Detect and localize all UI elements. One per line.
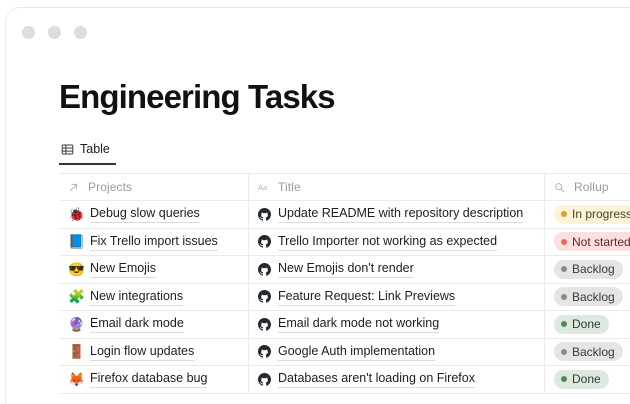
project-emoji-icon: 🚪	[68, 345, 83, 359]
cell-project[interactable]: 🐞Debug slow queries	[59, 201, 249, 228]
status-label: Backlog	[572, 290, 615, 304]
table-body: 🐞Debug slow queriesUpdate README with re…	[59, 201, 630, 394]
cell-rollup[interactable]: Backlog	[545, 339, 630, 366]
cell-project[interactable]: 🦊Firefox database bug	[59, 366, 249, 393]
status-dot-icon	[561, 321, 567, 327]
github-icon	[258, 345, 271, 358]
project-emoji-icon: 📘	[68, 235, 83, 249]
project-emoji-icon: 🐞	[68, 208, 83, 222]
github-icon	[258, 290, 271, 303]
maximize-dot[interactable]	[48, 26, 61, 39]
status-label: Done	[572, 317, 601, 331]
github-icon	[258, 318, 271, 331]
cell-rollup[interactable]: In progress	[545, 201, 630, 228]
app-window: Engineering Tasks Table	[6, 8, 630, 404]
status-dot-icon	[561, 349, 567, 355]
cell-title[interactable]: Google Auth implementation	[249, 339, 545, 366]
text-aa-icon: Aa	[258, 182, 271, 193]
cell-rollup[interactable]: Done	[545, 366, 630, 393]
task-title[interactable]: Feature Request: Link Previews	[278, 288, 455, 306]
cell-project[interactable]: 🚪Login flow updates	[59, 339, 249, 366]
relation-arrow-icon	[68, 182, 81, 193]
cell-title[interactable]: Update README with repository descriptio…	[249, 201, 545, 228]
github-icon	[258, 373, 271, 386]
column-header-rollup-label: Rollup	[574, 180, 609, 194]
column-header-title[interactable]: Aa Title	[249, 174, 545, 200]
github-icon	[258, 235, 271, 248]
project-name[interactable]: Fix Trello import issues	[90, 233, 218, 251]
cell-rollup[interactable]: Backlog	[545, 256, 630, 283]
column-header-rollup[interactable]: Rollup	[545, 174, 630, 200]
search-icon	[554, 182, 567, 193]
cell-title[interactable]: Feature Request: Link Previews	[249, 284, 545, 311]
status-dot-icon	[561, 376, 567, 382]
project-emoji-icon: 🧩	[68, 290, 83, 304]
table-row[interactable]: 📘Fix Trello import issuesTrello Importer…	[59, 229, 630, 257]
table-row[interactable]: 🔮Email dark modeEmail dark mode not work…	[59, 311, 630, 339]
status-label: Backlog	[572, 345, 615, 359]
window-controls	[22, 26, 87, 39]
cell-rollup[interactable]: Done	[545, 311, 630, 338]
task-title[interactable]: Google Auth implementation	[278, 343, 435, 361]
project-name[interactable]: Debug slow queries	[90, 205, 200, 223]
cell-title[interactable]: Databases aren't loading on Firefox	[249, 366, 545, 393]
status-label: Backlog	[572, 262, 615, 276]
cell-title[interactable]: Email dark mode not working	[249, 311, 545, 338]
status-badge: Backlog	[554, 260, 623, 279]
status-badge: In progress	[554, 205, 630, 224]
status-dot-icon	[561, 294, 567, 300]
screenshot-root: Engineering Tasks Table	[0, 0, 630, 404]
project-emoji-icon: 😎	[68, 263, 83, 277]
table-header-row: Projects Aa Title	[59, 174, 630, 201]
table-row[interactable]: 😎New EmojisNew Emojis don't renderBacklo…	[59, 256, 630, 284]
cell-rollup[interactable]: Not started	[545, 229, 630, 256]
github-icon	[258, 208, 271, 221]
column-header-title-label: Title	[278, 180, 301, 194]
cell-title[interactable]: New Emojis don't render	[249, 256, 545, 283]
table-row[interactable]: 🦊Firefox database bugDatabases aren't lo…	[59, 366, 630, 394]
task-title[interactable]: Email dark mode not working	[278, 315, 439, 333]
table-row[interactable]: 🐞Debug slow queriesUpdate README with re…	[59, 201, 630, 229]
close-dot[interactable]	[74, 26, 87, 39]
cell-project[interactable]: 🧩New integrations	[59, 284, 249, 311]
status-badge: Not started	[554, 232, 630, 251]
project-emoji-icon: 🦊	[68, 373, 83, 387]
status-dot-icon	[561, 239, 567, 245]
project-name[interactable]: Firefox database bug	[90, 370, 207, 388]
cell-project[interactable]: 😎New Emojis	[59, 256, 249, 283]
svg-text:Aa: Aa	[258, 183, 268, 192]
status-badge: Backlog	[554, 342, 623, 361]
project-name[interactable]: New integrations	[90, 288, 183, 306]
page-title: Engineering Tasks	[59, 78, 335, 116]
project-name[interactable]: Login flow updates	[90, 343, 194, 361]
status-label: Done	[572, 372, 601, 386]
project-emoji-icon: 🔮	[68, 318, 83, 332]
status-badge: Done	[554, 315, 609, 334]
column-header-projects[interactable]: Projects	[59, 174, 249, 200]
table-icon	[61, 143, 74, 156]
minimize-dot[interactable]	[22, 26, 35, 39]
cell-rollup[interactable]: Backlog	[545, 284, 630, 311]
project-name[interactable]: New Emojis	[90, 260, 156, 278]
view-tabs: Table	[59, 142, 116, 165]
status-dot-icon	[561, 211, 567, 217]
cell-project[interactable]: 🔮Email dark mode	[59, 311, 249, 338]
cell-project[interactable]: 📘Fix Trello import issues	[59, 229, 249, 256]
task-title[interactable]: Databases aren't loading on Firefox	[278, 370, 475, 388]
status-badge: Done	[554, 370, 609, 389]
status-label: Not started	[572, 235, 630, 249]
task-title[interactable]: Update README with repository descriptio…	[278, 205, 523, 223]
task-title[interactable]: Trello Importer not working as expected	[278, 233, 497, 251]
cell-title[interactable]: Trello Importer not working as expected	[249, 229, 545, 256]
status-badge: Backlog	[554, 287, 623, 306]
tab-table[interactable]: Table	[59, 142, 116, 165]
table-row[interactable]: 🧩New integrationsFeature Request: Link P…	[59, 284, 630, 312]
tab-table-label: Table	[80, 142, 110, 156]
table-row[interactable]: 🚪Login flow updatesGoogle Auth implement…	[59, 339, 630, 367]
column-header-projects-label: Projects	[88, 180, 132, 194]
project-name[interactable]: Email dark mode	[90, 315, 184, 333]
status-label: In progress	[572, 207, 630, 221]
task-title[interactable]: New Emojis don't render	[278, 260, 414, 278]
status-dot-icon	[561, 266, 567, 272]
github-icon	[258, 263, 271, 276]
tasks-table: Projects Aa Title	[59, 173, 630, 394]
